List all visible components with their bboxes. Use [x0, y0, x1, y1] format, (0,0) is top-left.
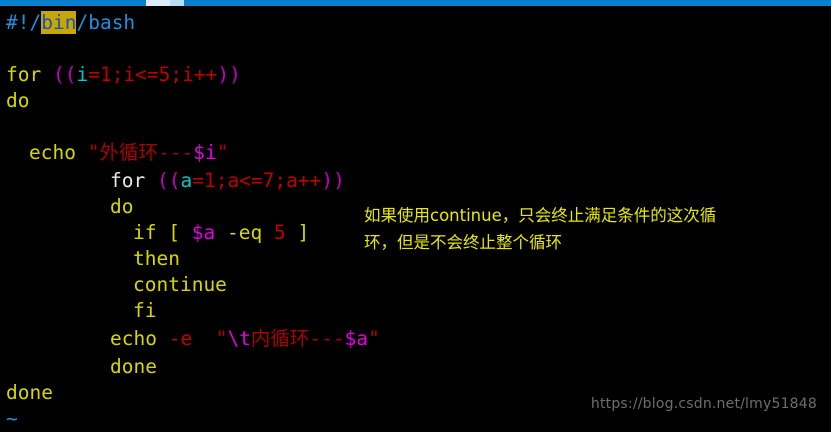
code-line-4: do — [6, 88, 29, 114]
code-line-8: do — [110, 194, 133, 220]
token-keyword-continue: continue — [133, 273, 227, 296]
token-keyword-do-inner: do — [110, 195, 133, 218]
watermark-url: https://blog.csdn.net/lmy51848 — [591, 396, 817, 412]
code-line-1: #!/bin/bash — [6, 10, 135, 36]
token-keyword-echo-inner: echo — [110, 327, 157, 350]
token-string-inner: 内循环--- — [251, 327, 345, 350]
token-keyword-then: then — [133, 247, 180, 270]
token-escape-tab: \t — [227, 327, 250, 350]
annotation-note: 如果使用continue，只会终止满足条件的这次循 环，但是不会终止整个循环 — [364, 202, 814, 256]
token-expr-inner: =1;a<=7;a++ — [192, 169, 321, 192]
token-var-a: a — [180, 169, 192, 192]
code-line-15: done — [6, 380, 53, 406]
token-shebang-prefix: #!/ — [6, 11, 41, 34]
token-var-dollar-a-test: $a — [192, 221, 215, 244]
token-bracket-close: ] — [297, 221, 309, 244]
token-test-operator: -eq — [227, 221, 262, 244]
code-line-3: for ((i=1;i<=5;i++)) — [6, 62, 241, 88]
code-line-6: echo "外循环---$i" — [29, 140, 228, 166]
code-line-14: done — [110, 354, 157, 380]
token-paren-open-inner: (( — [157, 169, 180, 192]
token-keyword-if: if — [133, 221, 156, 244]
token-expr-outer: =1;i<=5;i++ — [88, 63, 217, 86]
token-paren-open-outer: (( — [53, 63, 76, 86]
token-paren-close-outer: )) — [217, 63, 240, 86]
token-paren-close-inner: )) — [321, 169, 344, 192]
token-quote-open-outer: " — [88, 141, 100, 164]
token-keyword-for-inner: for — [110, 169, 145, 192]
code-line-12: fi — [133, 298, 156, 324]
annotation-line-1: 如果使用continue，只会终止满足条件的这次循 — [364, 202, 814, 229]
token-shebang-suffix: /bash — [76, 11, 135, 34]
token-flag-e: -e — [169, 327, 192, 350]
token-var-dollar-a: $a — [345, 327, 368, 350]
token-keyword-done-outer: done — [6, 381, 53, 404]
token-keyword-for-outer: for — [6, 63, 41, 86]
token-var-i: i — [76, 63, 88, 86]
token-quote-open-inner: " — [216, 327, 228, 350]
code-line-16-tilde: ~ — [6, 406, 18, 432]
token-bin-highlighted: bin — [41, 11, 76, 34]
token-quote-close-outer: " — [217, 141, 229, 164]
code-line-7: for ((a=1;a<=7;a++)) — [110, 168, 345, 194]
code-line-13: echo -e "\t内循环---$a" — [110, 326, 380, 352]
code-line-9: if [ $a -eq 5 ] — [133, 220, 309, 246]
terminal-editor-surface[interactable]: #!/bin/bash for ((i=1;i<=5;i++)) do echo… — [0, 6, 831, 430]
code-line-10: then — [133, 246, 180, 272]
token-bracket-open: [ — [168, 221, 180, 244]
token-keyword-fi: fi — [133, 299, 156, 322]
token-number-5: 5 — [274, 221, 286, 244]
token-string-outer: 外循环--- — [99, 141, 193, 164]
vim-empty-line-marker: ~ — [6, 407, 18, 430]
token-var-dollar-i: $i — [193, 141, 216, 164]
token-keyword-do-outer: do — [6, 89, 29, 112]
token-keyword-done-inner: done — [110, 355, 157, 378]
annotation-line-2: 环，但是不会终止整个循环 — [364, 229, 814, 256]
code-line-11: continue — [133, 272, 227, 298]
token-quote-close-inner: " — [368, 327, 380, 350]
token-keyword-echo-outer: echo — [29, 141, 76, 164]
